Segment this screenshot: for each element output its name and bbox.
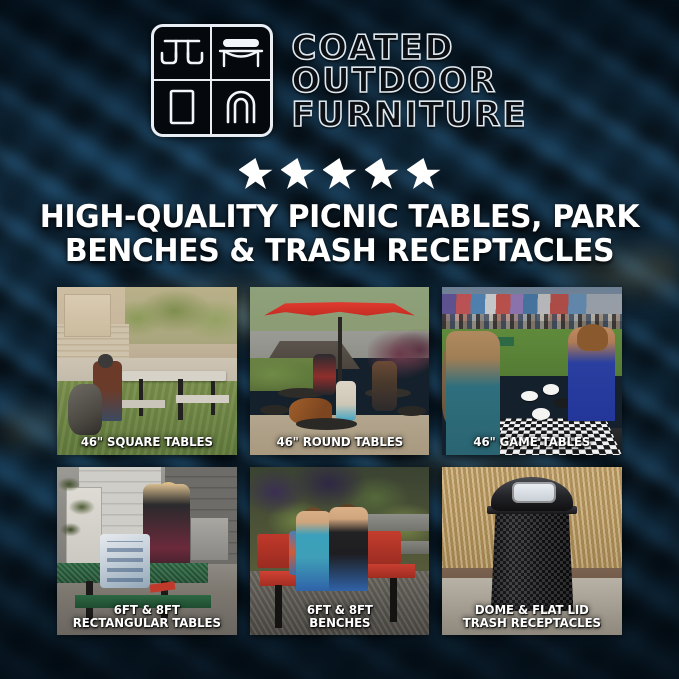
tile-46-game-tables[interactable]: 46" GAME TABLES: [442, 287, 622, 455]
star-icon-2: [281, 158, 315, 191]
caption-line: TRASH RECEPTACLES: [450, 616, 615, 629]
brand-wordmark: COATED OUTDOOR FURNITURE: [291, 30, 527, 132]
caption-line: RECTANGULAR TABLES: [64, 616, 229, 629]
brand-logo[interactable]: COATED OUTDOOR FURNITURE: [0, 24, 679, 137]
wordmark-line-1: COATED: [291, 32, 527, 65]
caption-line: 46" ROUND TABLES: [257, 435, 422, 448]
tile-46-round-tables[interactable]: 46" ROUND TABLES: [250, 287, 430, 455]
star-icon-3: [323, 158, 357, 191]
picnic-table-icon: [154, 27, 212, 81]
headline-line-1: HIGH-QUALITY PICNIC TABLES, PARK: [39, 200, 640, 234]
product-category-grid: 46" SQUARE TABLES: [57, 287, 622, 635]
tile-image-round-tables: [250, 287, 430, 455]
tile-caption-rectangular-tables: 6FT & 8FT RECTANGULAR TABLES: [64, 603, 229, 629]
promo-banner: COATED OUTDOOR FURNITURE HIGH-QUALITY PI…: [0, 0, 679, 679]
caption-line: 46" SQUARE TABLES: [64, 435, 229, 448]
trash-receptacle-icon: [154, 81, 212, 135]
tile-caption-round-tables: 46" ROUND TABLES: [257, 435, 422, 448]
tile-46-square-tables[interactable]: 46" SQUARE TABLES: [57, 287, 237, 455]
star-icon-1: [239, 158, 273, 191]
tile-caption-benches: 6FT & 8FT BENCHES: [257, 603, 422, 629]
tile-trash-receptacles[interactable]: DOME & FLAT LID TRASH RECEPTACLES: [442, 467, 622, 635]
star-icon-5: [407, 158, 441, 191]
park-bench-icon: [212, 27, 270, 81]
tile-rectangular-tables[interactable]: 6FT & 8FT RECTANGULAR TABLES: [57, 467, 237, 635]
banner-content: COATED OUTDOOR FURNITURE HIGH-QUALITY PI…: [0, 0, 679, 679]
tile-image-square-tables: [57, 287, 237, 455]
tile-caption-game-tables: 46" GAME TABLES: [450, 435, 615, 448]
headline-line-2: BENCHES & TRASH RECEPTACLES: [39, 234, 640, 268]
headline: HIGH-QUALITY PICNIC TABLES, PARK BENCHES…: [39, 200, 640, 268]
caption-line: BENCHES: [257, 616, 422, 629]
star-icon-4: [365, 158, 399, 191]
tile-caption-trash-receptacles: DOME & FLAT LID TRASH RECEPTACLES: [450, 603, 615, 629]
wordmark-line-2: OUTDOOR: [291, 65, 527, 98]
tile-image-game-tables: [442, 287, 622, 455]
logo-icon-grid: [151, 24, 273, 137]
bike-rack-icon: [212, 81, 270, 135]
star-rating: [0, 158, 679, 191]
caption-line: 46" GAME TABLES: [450, 435, 615, 448]
tile-benches[interactable]: 6FT & 8FT BENCHES: [250, 467, 430, 635]
tile-caption-square-tables: 46" SQUARE TABLES: [64, 435, 229, 448]
wordmark-line-3: FURNITURE: [291, 99, 527, 132]
